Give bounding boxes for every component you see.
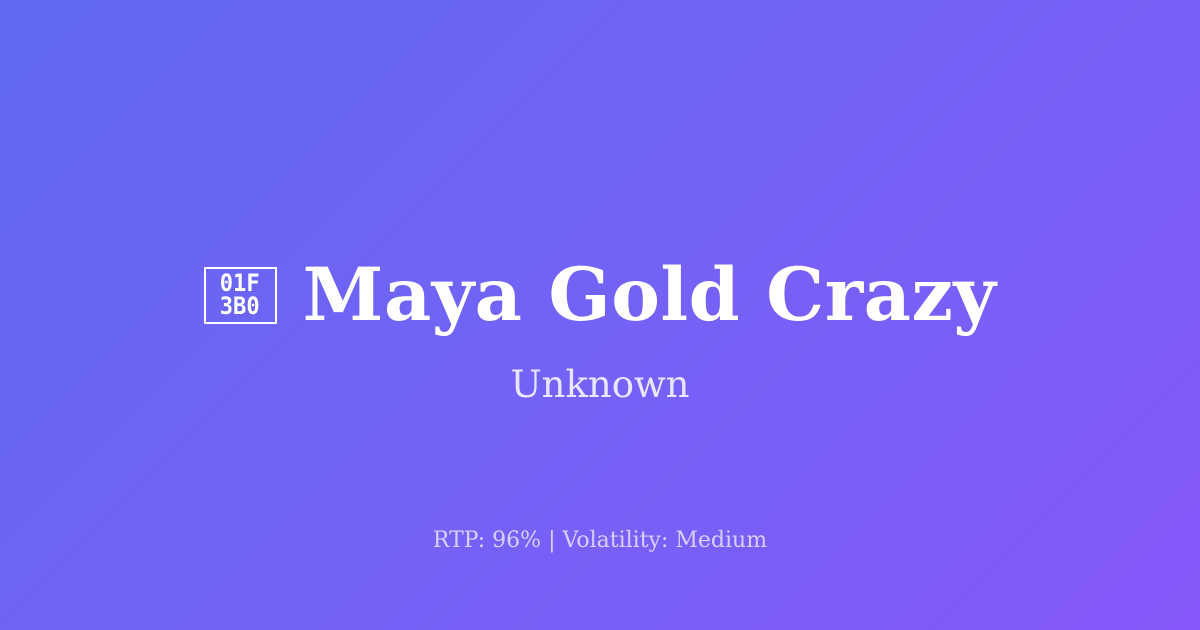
slot-machine-icon: 01F 3B0 <box>204 267 277 324</box>
headline: 01F 3B0 Maya Gold Crazy <box>204 259 997 332</box>
game-stats-line: RTP: 96% | Volatility: Medium <box>0 528 1200 554</box>
og-share-card: 01F 3B0 Maya Gold Crazy Unknown RTP: 96%… <box>0 0 1200 630</box>
page-title: Maya Gold Crazy <box>303 259 997 332</box>
tofu-codepoint-row-bottom: 3B0 <box>220 295 260 318</box>
game-provider-subtitle: Unknown <box>0 363 1200 407</box>
